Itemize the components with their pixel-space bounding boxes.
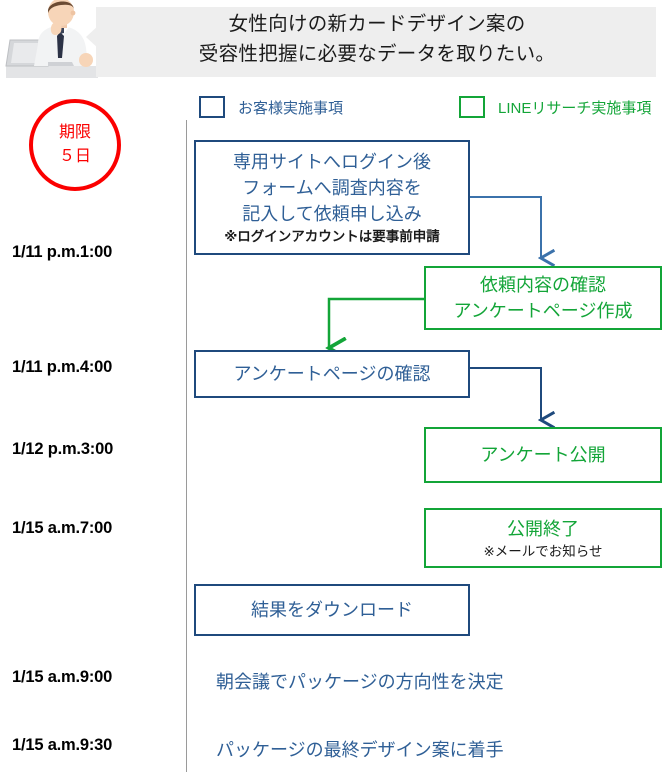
legend-item-customer: お客様実施事項 (199, 96, 343, 118)
speech-line-1: 女性向けの新カードデザイン案の (110, 9, 644, 39)
step-note-close-survey: ※メールでお知らせ (483, 542, 602, 561)
arrow-login-to-confirm (470, 197, 541, 258)
timestamp-3: 1/15 a.m.7:00 (12, 519, 178, 538)
deadline-days: ５日 (59, 145, 91, 169)
step-box-confirm-and-build[interactable]: 依頼内容の確認 アンケートページ作成 (424, 266, 662, 330)
speech-line-2: 受容性把握に必要なデータを取りたい。 (110, 39, 644, 69)
legend-label-customer: お客様実施事項 (238, 97, 343, 118)
workflow-timeline-diagram: 女性向けの新カードデザイン案の 受容性把握に必要なデータを取りたい。 期限 ５日… (0, 0, 666, 782)
step-text-login-request: 専用サイトへログイン後 フォームへ調査内容を 記入して依頼申し込み (233, 149, 431, 227)
step-box-login-request[interactable]: 専用サイトへログイン後 フォームへ調査内容を 記入して依頼申し込み ※ログインア… (194, 140, 470, 255)
step-box-download-results[interactable]: 結果をダウンロード (194, 584, 470, 636)
step-text-publish-survey: アンケート公開 (480, 442, 605, 468)
step-box-publish-survey[interactable]: アンケート公開 (424, 427, 662, 483)
step-box-review-survey-page[interactable]: アンケートページの確認 (194, 350, 470, 398)
plain-step-final-design: パッケージの最終デザイン案に着手 (216, 736, 504, 762)
deadline-label: 期限 (59, 121, 91, 145)
deadline-stamp: 期限 ５日 (29, 99, 121, 191)
green-square-icon (459, 96, 485, 118)
step-text-close-survey: 公開終了 (507, 516, 579, 542)
timestamp-2: 1/12 p.m.3:00 (12, 440, 178, 459)
step-text-review-survey-page: アンケートページの確認 (234, 361, 431, 387)
timestamp-1: 1/11 p.m.4:00 (12, 358, 178, 377)
timestamp-0: 1/11 p.m.1:00 (12, 243, 178, 262)
step-box-close-survey[interactable]: 公開終了 ※メールでお知らせ (424, 508, 662, 568)
legend-item-line-research: LINEリサーチ実施事項 (459, 96, 651, 118)
arrow-review-to-publish (470, 368, 541, 420)
step-text-download-results: 結果をダウンロード (251, 597, 413, 623)
timeline-axis (186, 120, 187, 772)
timestamp-4: 1/15 a.m.9:00 (12, 668, 178, 687)
speech-bubble-text: 女性向けの新カードデザイン案の 受容性把握に必要なデータを取りたい。 (110, 9, 644, 69)
blue-square-icon (199, 96, 225, 118)
arrow-confirm-to-review (329, 299, 424, 348)
plain-step-morning-meeting: 朝会議でパッケージの方向性を決定 (216, 668, 504, 694)
step-text-confirm-and-build: 依頼内容の確認 アンケートページ作成 (454, 272, 633, 324)
step-note-login-request: ※ログインアカウントは要事前申請 (224, 227, 440, 246)
legend-label-line-research: LINEリサーチ実施事項 (498, 97, 651, 118)
timestamp-5: 1/15 a.m.9:30 (12, 736, 178, 755)
